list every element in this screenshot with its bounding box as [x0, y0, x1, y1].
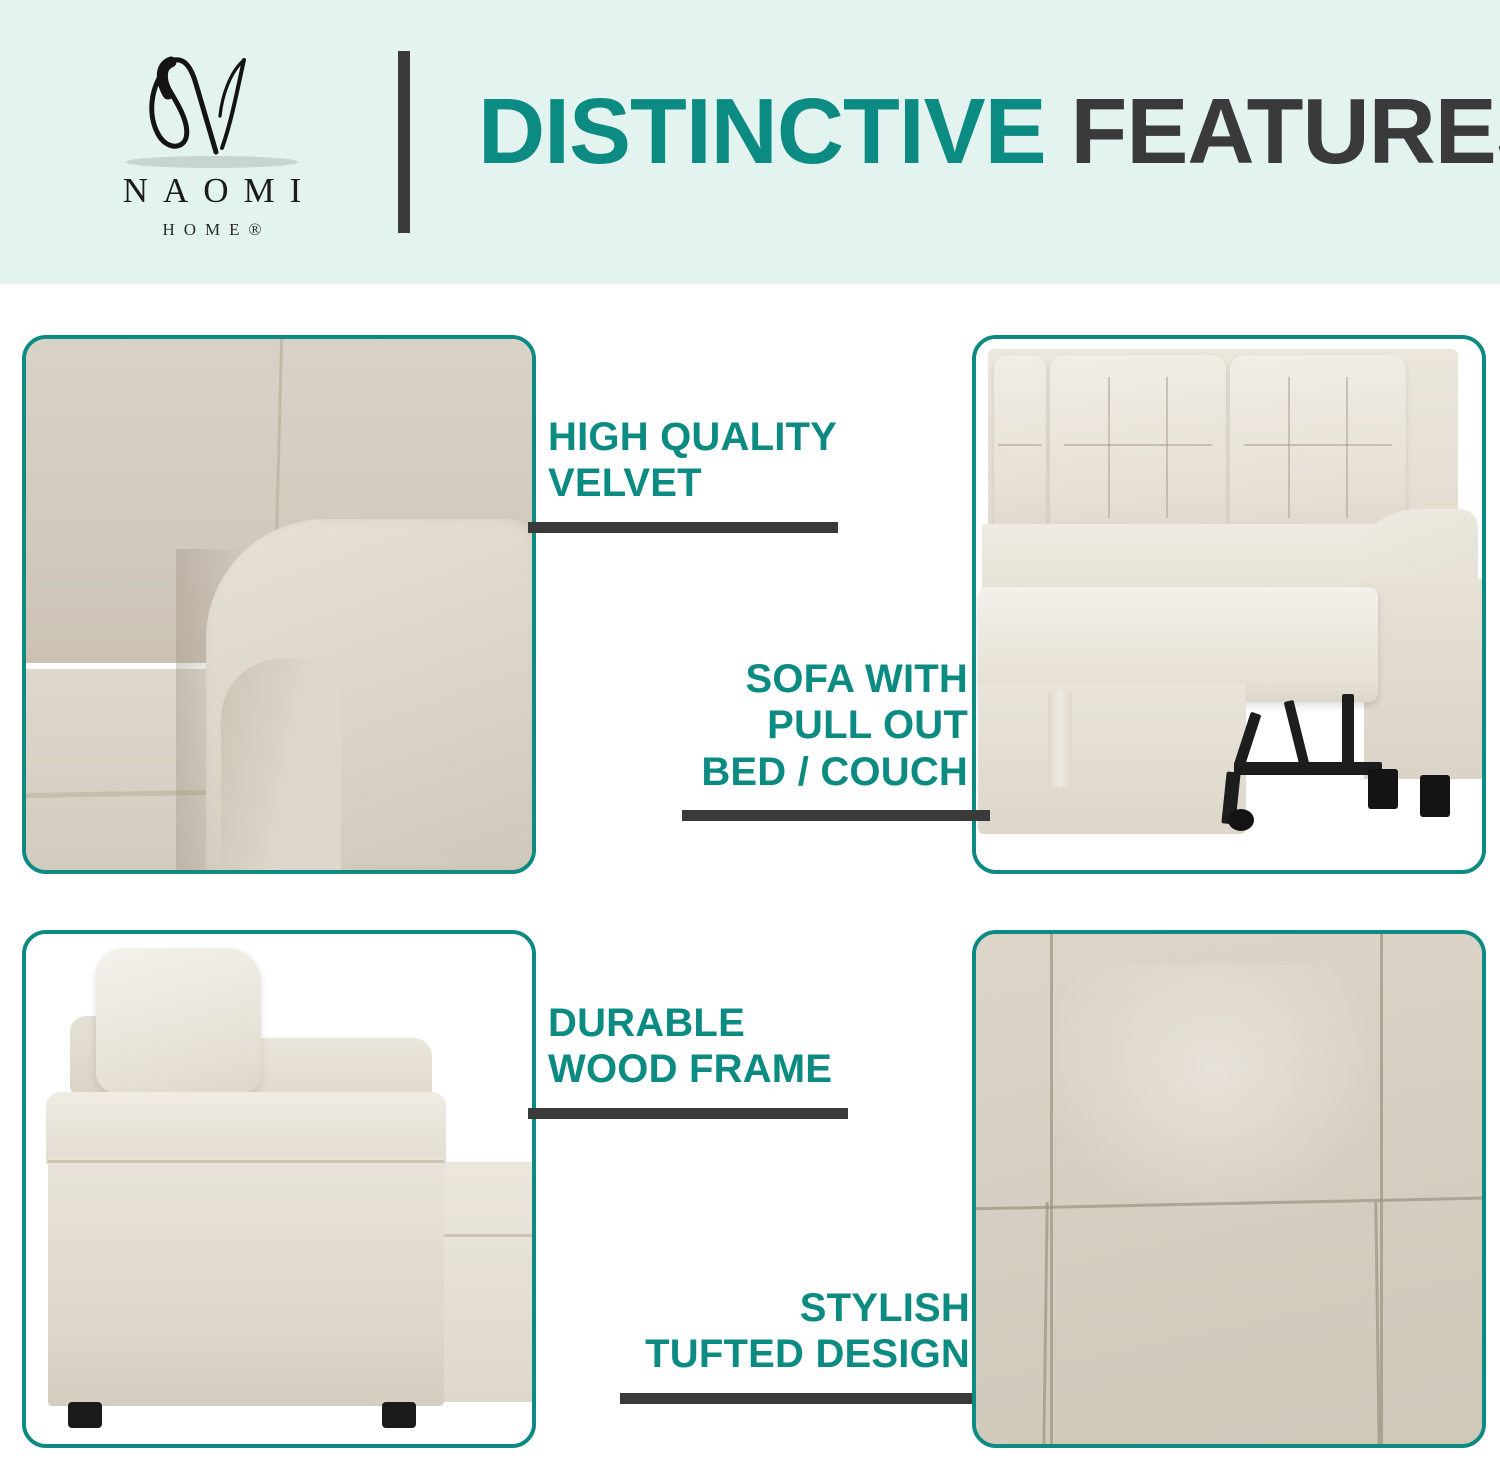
page-title-rest: FEATURES [1046, 79, 1500, 183]
pullout-leg-foot-2 [1420, 775, 1450, 817]
caption-frame-underline [528, 1108, 848, 1119]
pullout-cushion-3 [1230, 355, 1406, 540]
caption-tufted-text: STYLISH TUFTED DESIGN [640, 1285, 970, 1378]
pullout-cushion-1 [994, 355, 1046, 540]
pullout-right-body [1364, 579, 1482, 779]
caption-frame-text: DURABLE WOOD FRAME [548, 1000, 878, 1093]
frame-foot-left [68, 1402, 102, 1428]
pullout-leg-foot-1 [1368, 769, 1398, 809]
caption-pullout: SOFA WITH PULL OUT BED / COUCH [660, 656, 968, 795]
infographic-page: NAOMI HOME® DISTINCTIVE FEATURES HIGH QU… [0, 0, 1500, 1461]
pullout-bed-front-panel [978, 684, 1246, 834]
frame-back-pillow [96, 948, 261, 1093]
pullout-metal-mechanism [1234, 684, 1374, 804]
caption-velvet-underline [528, 522, 838, 533]
frame-seat-cushion [46, 1092, 446, 1164]
brand-subtitle: HOME® [62, 221, 362, 238]
frame-base-seam [48, 1160, 444, 1163]
brand-name: NAOMI [62, 173, 362, 208]
frame-wood-base [48, 1156, 444, 1406]
tufted-highlight [1037, 965, 1391, 1230]
feature-image-tufted [972, 930, 1486, 1448]
pullout-cushion-2 [1050, 355, 1226, 540]
naomi-monogram-icon [62, 46, 362, 171]
brand-logo: NAOMI HOME® [62, 46, 362, 246]
frame-chaise-section [438, 1162, 534, 1402]
tufted-fabric-photo [976, 934, 1482, 1444]
tufted-seam-right [1380, 930, 1383, 1446]
pullout-caster-foot [1228, 809, 1254, 831]
frame-chaise-seam [438, 1234, 534, 1237]
sofa-side-profile-photo [26, 934, 532, 1444]
velvet-arm-fold [221, 659, 341, 874]
frame-foot-right [382, 1402, 416, 1428]
caption-pullout-text: SOFA WITH PULL OUT BED / COUCH [660, 656, 968, 795]
caption-frame: DURABLE WOOD FRAME [548, 1000, 878, 1093]
caption-velvet: HIGH QUALITY VELVET [548, 414, 878, 507]
pullout-sofa-photo [976, 339, 1482, 870]
feature-image-velvet [22, 335, 536, 874]
header-banner: NAOMI HOME® DISTINCTIVE FEATURES [0, 0, 1500, 284]
page-title: DISTINCTIVE FEATURES [478, 85, 1500, 178]
tufted-seam-left [1050, 930, 1053, 1446]
caption-pullout-underline [682, 810, 990, 821]
header-divider [398, 51, 410, 233]
pullout-pull-strap [1048, 691, 1072, 787]
page-title-highlight: DISTINCTIVE [478, 79, 1046, 183]
feature-image-pullout [972, 335, 1486, 874]
velvet-closeup-photo [26, 339, 532, 870]
caption-velvet-text: HIGH QUALITY VELVET [548, 414, 878, 507]
caption-tufted-underline [620, 1393, 972, 1404]
feature-image-frame [22, 930, 536, 1448]
caption-tufted: STYLISH TUFTED DESIGN [640, 1285, 970, 1378]
